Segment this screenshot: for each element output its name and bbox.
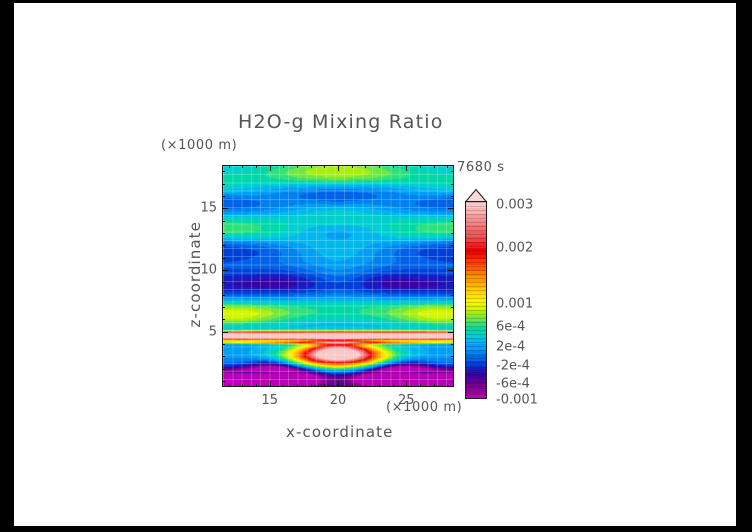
y-tick: [451, 258, 454, 259]
x-axis-title: x-coordinate: [286, 423, 394, 441]
x-tick: [256, 384, 257, 387]
colorbar-band: [466, 366, 486, 372]
page-title: H2O-g Mixing Ratio: [238, 111, 444, 133]
colorbar-band: [466, 349, 486, 355]
colorbar-band: [466, 270, 486, 276]
colorbar-band: [466, 338, 486, 344]
colorbar-band: [466, 377, 486, 383]
colorbar-band: [466, 332, 486, 338]
colorbar-band: [466, 298, 486, 304]
y-tick: [222, 381, 225, 382]
x-tick: [338, 381, 339, 387]
colorbar-band: [466, 202, 486, 208]
y-tick: [222, 184, 225, 185]
x-tick: [365, 165, 366, 168]
colorbar-tick-label: -2e-4: [496, 359, 530, 374]
y-tick: [451, 307, 454, 308]
contour-plot-area: [222, 165, 454, 387]
x-tick: [393, 384, 394, 387]
colorbar-band: [466, 242, 486, 248]
colorbar-band: [466, 236, 486, 242]
y-tick: [222, 208, 228, 209]
y-tick: [222, 245, 225, 246]
y-tick: [451, 233, 454, 234]
figure-root: H2O-g Mixing Ratio (×1000 m) 7680 s z-co…: [0, 0, 752, 532]
x-tick: [229, 384, 230, 387]
x-tick: [434, 165, 435, 168]
y-tick: [222, 171, 225, 172]
x-tick: [256, 165, 257, 168]
figure-canvas: H2O-g Mixing Ratio (×1000 m) 7680 s z-co…: [14, 3, 736, 526]
x-tick: [393, 165, 394, 168]
x-tick: [324, 384, 325, 387]
x-tick: [283, 384, 284, 387]
y-tick: [451, 221, 454, 222]
y-tick: [222, 319, 225, 320]
x-tick: [352, 384, 353, 387]
colorbar-band: [466, 219, 486, 225]
y-tick: [222, 282, 225, 283]
y-tick: [451, 295, 454, 296]
y-tick: [448, 270, 454, 271]
colorbar-band: [466, 264, 486, 270]
colorbar-band: [466, 287, 486, 293]
x-tick: [270, 381, 271, 387]
colorbar-tick-label: 0.002: [496, 240, 533, 255]
colorbar-band: [466, 343, 486, 349]
colorbar-tick-label: 2e-4: [496, 339, 525, 354]
colorbar-band: [466, 355, 486, 361]
colorbar-band: [466, 225, 486, 231]
colorbar-band: [466, 293, 486, 299]
x-tick: [379, 384, 380, 387]
x-tick: [297, 165, 298, 168]
colorbar-band: [466, 208, 486, 214]
colorbar-gradient: [465, 201, 487, 399]
y-tick: [451, 356, 454, 357]
y-tick: [448, 332, 454, 333]
x-tick: [311, 165, 312, 168]
x-tick: [365, 384, 366, 387]
colorbar-band: [466, 394, 486, 399]
colorbar-band: [466, 360, 486, 366]
x-tick: [447, 165, 448, 168]
colorbar-band: [466, 321, 486, 327]
colorbar-band: [466, 230, 486, 236]
y-tick: [451, 344, 454, 345]
x-tick: [338, 165, 339, 171]
y-tick: [451, 245, 454, 246]
x-tick-label: 15: [261, 393, 278, 408]
x-tick-label: 25: [398, 393, 415, 408]
x-tick: [324, 165, 325, 168]
colorbar-band: [466, 247, 486, 253]
y-tick-label: 15: [195, 201, 217, 216]
y-tick: [222, 196, 225, 197]
colorbar-band: [466, 253, 486, 259]
y-tick: [451, 381, 454, 382]
x-tick: [379, 165, 380, 168]
y-tick: [451, 196, 454, 197]
colorbar-band: [466, 259, 486, 265]
colorbar-band: [466, 309, 486, 315]
colorbar-band: [466, 389, 486, 395]
colorbar-band: [466, 315, 486, 321]
x-tick: [297, 384, 298, 387]
x-tick: [406, 165, 407, 171]
x-tick: [420, 165, 421, 168]
x-tick: [242, 165, 243, 168]
colorbar-tick-label: -6e-4: [496, 377, 530, 392]
y-tick: [222, 307, 225, 308]
y-tick: [451, 171, 454, 172]
x-tick: [352, 165, 353, 168]
y-axis-unit-label: (×1000 m): [161, 138, 237, 153]
colorbar-band: [466, 213, 486, 219]
colorbar-band: [466, 383, 486, 389]
y-tick: [222, 369, 225, 370]
colorbar-tick-label: 6e-4: [496, 319, 525, 334]
y-tick: [451, 184, 454, 185]
colorbar-tick-label: 0.001: [496, 297, 533, 312]
y-tick: [451, 369, 454, 370]
y-tick: [222, 344, 225, 345]
x-tick: [420, 384, 421, 387]
x-tick: [229, 165, 230, 168]
colorbar-tick-label: -0.001: [496, 393, 538, 408]
x-tick: [406, 381, 407, 387]
y-tick-label: 5: [195, 324, 217, 339]
y-tick: [222, 332, 228, 333]
x-tick: [242, 384, 243, 387]
colorbar-band: [466, 326, 486, 332]
x-tick: [270, 165, 271, 171]
y-tick: [222, 295, 225, 296]
y-tick: [222, 233, 225, 234]
timestamp-annotation: 7680 s: [457, 160, 505, 175]
x-tick: [447, 384, 448, 387]
x-tick: [283, 165, 284, 168]
contour-field: [223, 166, 453, 386]
colorbar-band: [466, 304, 486, 310]
x-tick-label: 20: [330, 393, 347, 408]
y-tick: [448, 208, 454, 209]
y-tick: [451, 319, 454, 320]
y-tick: [222, 221, 225, 222]
y-tick-label: 10: [195, 262, 217, 277]
colorbar-band: [466, 276, 486, 282]
y-tick: [222, 356, 225, 357]
colorbar-band: [466, 372, 486, 378]
x-tick: [434, 384, 435, 387]
colorbar-tick-label: 0.003: [496, 198, 533, 213]
y-tick: [222, 258, 225, 259]
x-tick: [311, 384, 312, 387]
y-tick: [222, 270, 228, 271]
y-tick: [451, 282, 454, 283]
colorbar-band: [466, 281, 486, 287]
